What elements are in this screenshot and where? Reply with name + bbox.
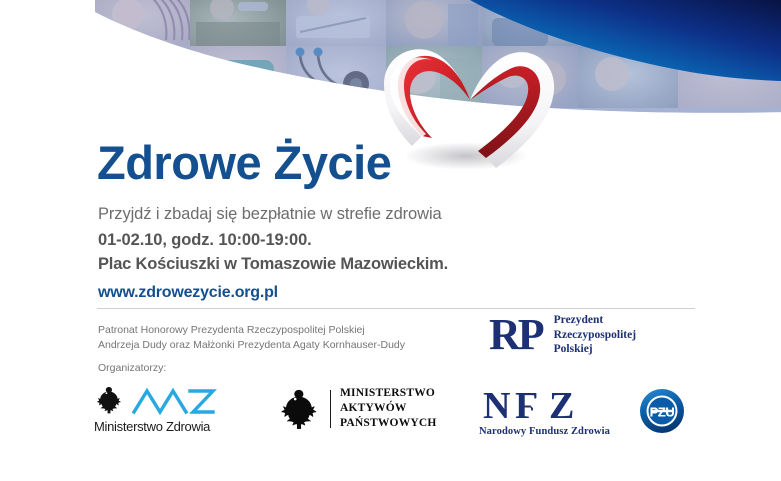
mz-monogram-icon xyxy=(131,387,217,415)
rp-monogram: RP xyxy=(489,314,542,356)
ministry-assets-line-1: MINISTERSTWO xyxy=(340,386,437,401)
website-link[interactable]: www.zdrowezycie.org.pl xyxy=(98,284,278,302)
organizers-label: Organizatorzy: xyxy=(98,362,166,374)
page-title: Zdrowe Życie xyxy=(97,138,391,187)
svg-text:N: N xyxy=(483,387,510,425)
polish-eagle-icon xyxy=(94,385,124,415)
pzu-badge-icon: PZU PZU xyxy=(639,388,685,434)
logo-vertical-rule xyxy=(330,390,331,428)
organizer-logo-row: Ministerstwo Zdrowia MINISTERSTWO AKTYWÓ… xyxy=(0,383,781,447)
event-location: Plac Kościuszki w Tomaszowie Mazowieckim… xyxy=(98,255,448,274)
logo-nfz: N F Z Narodowy Fundusz Zdrowia xyxy=(479,387,610,437)
horizontal-divider xyxy=(97,308,695,309)
rp-text-line-3: Polskiej xyxy=(554,342,636,357)
rp-logo-text: Prezydent Rzeczypospolitej Polskiej xyxy=(554,313,636,357)
nfz-caption: Narodowy Fundusz Zdrowia xyxy=(479,426,610,437)
logo-pzu: PZU PZU xyxy=(639,388,685,434)
ministry-assets-line-2: AKTYWÓW xyxy=(340,401,437,416)
event-date-time: 01-02.10, godz. 10:00-19:00. xyxy=(98,231,312,250)
polish-eagle-icon xyxy=(277,387,321,431)
svg-text:PZU: PZU xyxy=(650,405,675,420)
nfz-mark-icon: N F Z xyxy=(483,387,605,425)
logo-ministry-of-health: Ministerstwo Zdrowia xyxy=(94,385,217,434)
poster: Zdrowe Życie Przyjdź i zbadaj się bezpła… xyxy=(0,0,781,481)
president-rp-logo: RP Prezydent Rzeczypospolitej Polskiej xyxy=(489,313,636,357)
logo-ministry-of-state-assets: MINISTERSTWO AKTYWÓW PAŃSTWOWYCH xyxy=(277,386,437,432)
rp-text-line-2: Rzeczypospolitej xyxy=(554,328,636,343)
svg-text:Z: Z xyxy=(549,387,573,425)
ministry-health-caption: Ministerstwo Zdrowia xyxy=(94,419,217,434)
ministry-assets-text: MINISTERSTWO AKTYWÓW PAŃSTWOWYCH xyxy=(340,386,437,432)
patronage-block: Patronat Honorowy Prezydenta Rzeczypospo… xyxy=(98,323,405,353)
rp-text-line-1: Prezydent xyxy=(554,313,636,328)
subtitle-text: Przyjdź i zbadaj się bezpłatnie w strefi… xyxy=(98,205,442,224)
ministry-assets-line-3: PAŃSTWOWYCH xyxy=(340,416,437,431)
patronage-line-2: Andrzeja Dudy oraz Małżonki Prezydenta A… xyxy=(98,338,405,353)
heart-ribbon-logo xyxy=(368,38,578,188)
patronage-line-1: Patronat Honorowy Prezydenta Rzeczypospo… xyxy=(98,323,405,338)
